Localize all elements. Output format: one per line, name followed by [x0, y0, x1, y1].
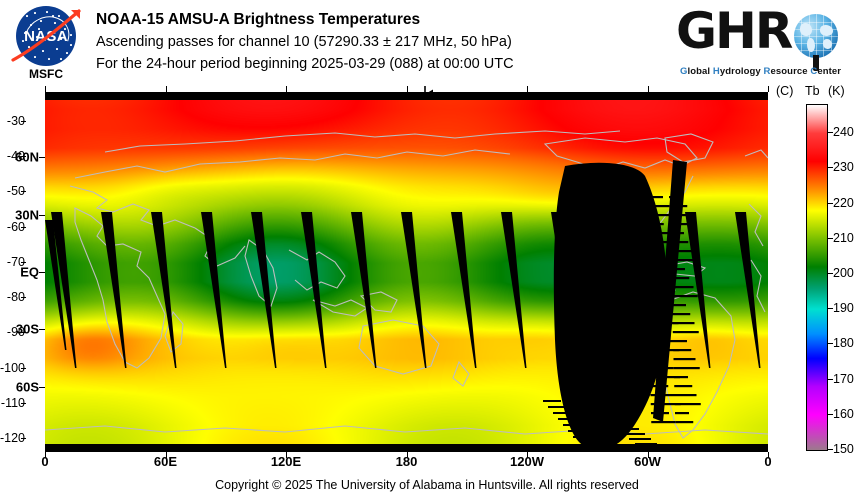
orbit-gap-wedge	[301, 212, 327, 368]
latitude-tickmark	[39, 157, 45, 158]
longitude-tickmark-top	[286, 86, 287, 92]
scanline-gap	[675, 403, 701, 405]
colorbar-kelvin-tickmark	[828, 343, 833, 344]
scanline-gap	[670, 241, 688, 243]
colorbar[interactable]	[806, 104, 828, 451]
ghrc-logo: GHR Global Hydrology Resource Center	[676, 6, 848, 82]
scanline-gap	[647, 250, 665, 252]
scanline-gap	[671, 277, 689, 279]
latitude-tickmark	[39, 272, 45, 273]
orbit-gap-wedge	[251, 212, 277, 368]
nasa-center-label: MSFC	[10, 67, 82, 81]
colorbar-celsius-tickmark	[21, 262, 26, 263]
latitude-tickmark	[39, 329, 45, 330]
scanline-gap	[670, 232, 684, 234]
scanline-gap	[674, 385, 692, 387]
colorbar-kelvin-tickmark	[828, 273, 833, 274]
colorbar-celsius-tickmark	[21, 121, 26, 122]
colorbar-kelvin-tick: 200	[833, 266, 854, 280]
colorbar-unit-celsius: (C)	[776, 84, 793, 98]
title-line-2: Ascending passes for channel 10 (57290.3…	[96, 31, 656, 53]
scanline-gap	[563, 424, 581, 426]
longitude-tickmark-top	[527, 86, 528, 92]
map-field[interactable]	[45, 100, 768, 444]
scanline-gap	[548, 406, 566, 408]
colorbar-kelvin-tickmark	[828, 167, 833, 168]
orbit-gap-wedge	[101, 212, 127, 368]
colorbar-celsius-tickmark	[21, 297, 26, 298]
scanline-gap	[553, 412, 571, 414]
nasa-msfc-logo: NASA MSFC	[10, 4, 82, 82]
orbit-direction-arrow-icon	[408, 86, 442, 100]
colorbar-kelvin-tick: 240	[833, 125, 854, 139]
scanline-gap	[646, 223, 664, 225]
orbit-gap-wedge	[151, 212, 177, 368]
header: NASA MSFC NOAA-15 AMSU-A Brightness Temp…	[0, 0, 854, 88]
scanline-gap	[651, 421, 675, 423]
scanline-gap	[671, 268, 685, 270]
longitude-tickmark	[286, 452, 287, 458]
colorbar-kelvin-tickmark	[828, 238, 833, 239]
scanline-gap	[669, 205, 687, 207]
scanline-gap	[611, 423, 633, 425]
scanline-gap	[648, 313, 672, 315]
scanline-gap	[623, 433, 645, 435]
colorbar-celsius-tickmark	[21, 227, 26, 228]
scanline-gap	[673, 340, 687, 342]
scanline-gap	[558, 418, 576, 420]
plot-title-block: NOAA-15 AMSU-A Brightness Temperatures A…	[96, 9, 656, 75]
latitude-tickmark	[39, 215, 45, 216]
longitude-tickmark-top	[768, 86, 769, 92]
colorbar-kelvin-tick: 190	[833, 301, 854, 315]
colorbar-kelvin-tick: 180	[833, 336, 854, 350]
colorbar-kelvin-tickmark	[828, 308, 833, 309]
orbit-gap-wedge	[735, 212, 761, 368]
scanline-gap	[646, 232, 670, 234]
scanline-gap	[650, 385, 668, 387]
longitude-tickmark	[407, 452, 408, 458]
orbit-gap-wedge	[685, 212, 711, 368]
scanline-gap	[605, 418, 627, 420]
scanline-gap	[675, 421, 693, 423]
scanline-gap	[647, 277, 665, 279]
colorbar-celsius-tickmark	[21, 156, 26, 157]
missing-data-region	[554, 163, 667, 444]
colorbar-kelvin-tick: 160	[833, 407, 854, 421]
scanline-gap	[672, 286, 694, 288]
orbit-gap-wedge	[51, 212, 77, 368]
longitude-tickmark	[768, 452, 769, 458]
colorbar-kelvin-tick: 230	[833, 160, 854, 174]
longitude-tickmark	[45, 452, 46, 458]
scanline-gap	[671, 259, 697, 261]
scanline-gap	[651, 412, 669, 414]
colorbar-kelvin-tick: 220	[833, 196, 854, 210]
scanline-gap	[649, 331, 667, 333]
scanline-gap	[650, 367, 674, 369]
longitude-tickmark	[527, 452, 528, 458]
ghrc-wordmark: GHR	[676, 2, 791, 60]
scanline-gap	[674, 376, 688, 378]
scanline-gap	[568, 430, 586, 432]
colorbar-celsius-tickmark	[21, 368, 26, 369]
orbit-gap-wedge	[451, 212, 477, 368]
colorbar-unit-kelvin: (K)	[828, 84, 845, 98]
colorbar-kelvin-tickmark	[828, 379, 833, 380]
scanline-gap	[645, 205, 669, 207]
copyright-notice: Copyright © 2025 The University of Alaba…	[0, 478, 854, 492]
scanline-gap	[673, 331, 699, 333]
scanline-gap	[673, 349, 691, 351]
scanline-gap	[675, 394, 697, 396]
colorbar-kelvin-tick: 170	[833, 372, 854, 386]
map-plot-area[interactable]: 60N30NEQ30S60S 060E120E180120W60W0	[45, 92, 768, 452]
colorbar-kelvin-tickmark	[828, 203, 833, 204]
scanline-gap	[635, 443, 657, 444]
orbit-gap-wedge	[201, 212, 227, 368]
scanline-gap	[645, 196, 663, 198]
colorbar-kelvin-tickmark	[828, 414, 833, 415]
longitude-tickmark-top	[166, 86, 167, 92]
scanline-gap	[670, 223, 696, 225]
latitude-tickmark	[39, 387, 45, 388]
orbit-gap-wedge	[351, 212, 377, 368]
scanline-gap	[672, 313, 690, 315]
scanline-gap	[670, 214, 692, 216]
scanline-gap	[648, 304, 666, 306]
colorbar-kelvin-tick: 210	[833, 231, 854, 245]
nasa-swoosh-icon	[9, 8, 85, 64]
colorbar-celsius-tickmark	[21, 438, 26, 439]
orbit-gap-wedge	[501, 212, 527, 368]
longitude-tickmark	[166, 452, 167, 458]
scanline-gap	[650, 358, 668, 360]
scanline-gap	[673, 322, 695, 324]
data-gap-wedges	[45, 100, 768, 444]
scanline-gap	[647, 259, 671, 261]
scanline-gap	[649, 340, 673, 342]
scanline-gap	[671, 250, 693, 252]
colorbar-gradient	[807, 105, 827, 450]
scanline-gap	[674, 367, 700, 369]
colorbar-variable-label: Tb	[805, 84, 820, 98]
longitude-tickmark-top	[45, 86, 46, 92]
scanline-gap	[629, 438, 651, 440]
colorbar-kelvin-tickmark	[828, 449, 833, 450]
scanline-gap	[651, 394, 675, 396]
colorbar-celsius-tickmark	[21, 191, 26, 192]
scanline-gap	[617, 428, 639, 430]
scanline-gap	[573, 436, 591, 438]
ghrc-globe-icon	[794, 14, 838, 58]
orbital-gap-swaths	[45, 100, 768, 444]
longitude-tickmark	[648, 452, 649, 458]
scanline-gap	[648, 286, 672, 288]
ghrc-subtitle: Global Hydrology Resource Center	[680, 66, 841, 77]
scanline-gap	[543, 400, 561, 402]
scanline-gap	[672, 304, 686, 306]
scanline-gap	[674, 358, 696, 360]
title-line-3: For the 24-hour period beginning 2025-03…	[96, 53, 656, 75]
scanline-gap	[675, 412, 689, 414]
scanline-gap	[672, 295, 698, 297]
title-line-1: NOAA-15 AMSU-A Brightness Temperatures	[96, 9, 656, 31]
colorbar-kelvin-tick: 150	[833, 442, 854, 456]
colorbar-celsius-tickmark	[21, 403, 26, 404]
latitude-label: 60S	[1, 379, 39, 394]
scanline-gap	[669, 196, 683, 198]
colorbar-kelvin-tickmark	[828, 132, 833, 133]
longitude-tickmark-top	[648, 86, 649, 92]
colorbar-celsius-tickmark	[21, 332, 26, 333]
orbit-gap-wedge	[401, 212, 427, 368]
